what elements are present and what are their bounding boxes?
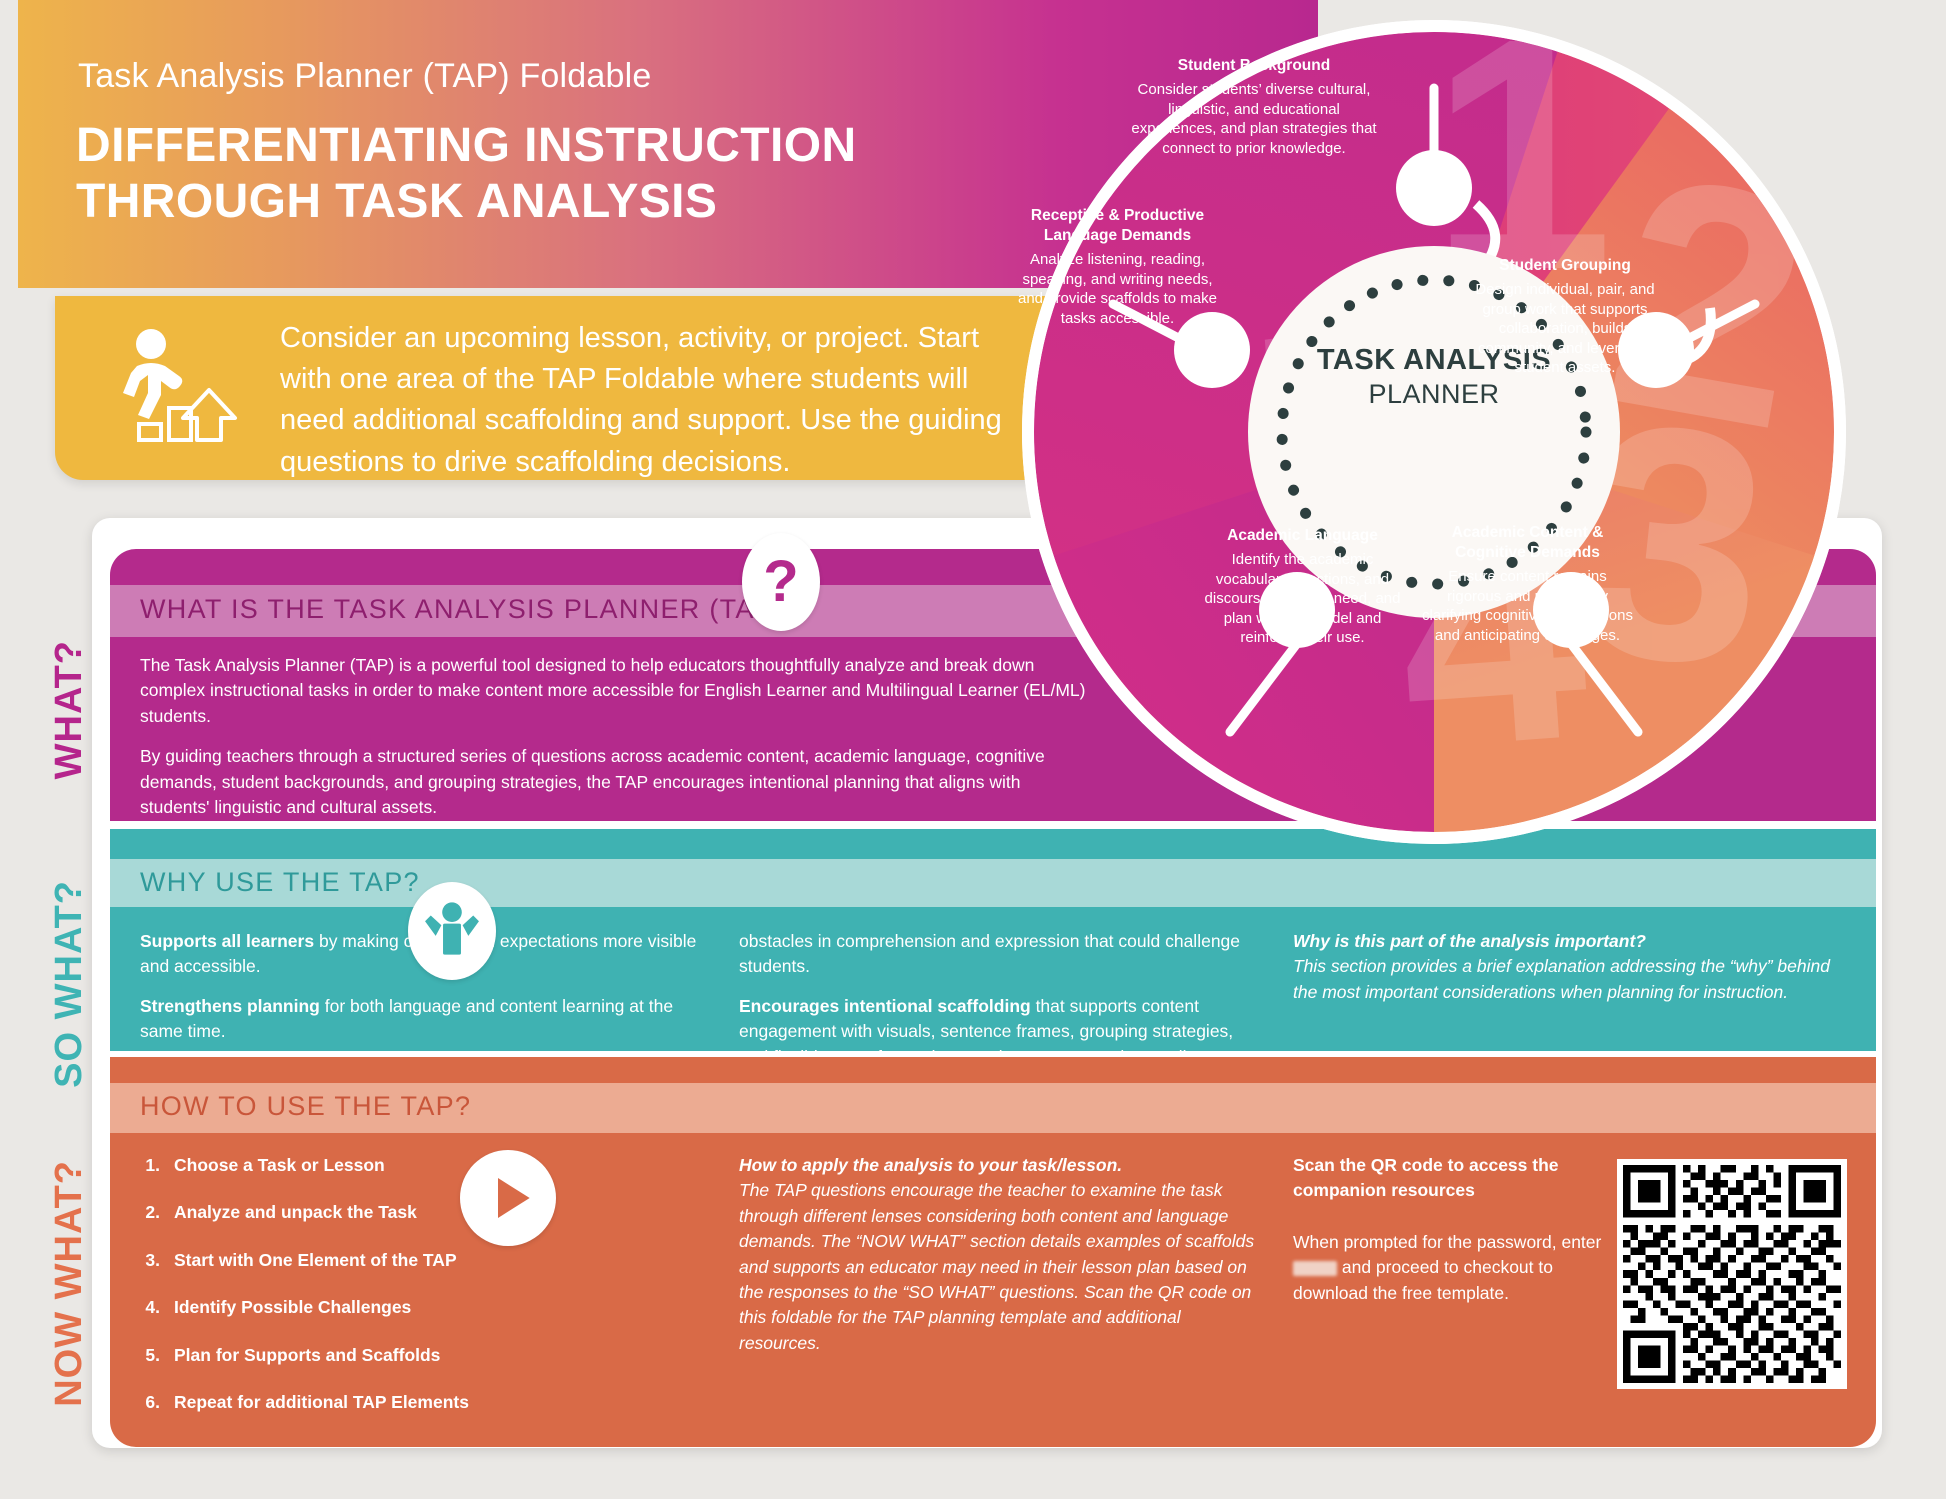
list-item: 6.Repeat for additional TAP Elements: [140, 1390, 705, 1415]
so-what-explainer: Why is this part of the analysis importa…: [1293, 929, 1853, 1005]
so-what-item: obstacles in comprehension and expressio…: [739, 929, 1259, 980]
list-item: 5.Plan for Supports and Scaffolds: [140, 1343, 705, 1368]
question-mark-icon: ?: [742, 533, 820, 631]
step-number: 1.: [140, 1153, 160, 1178]
now-what-steps-column: 1.Choose a Task or Lesson 2.Analyze and …: [140, 1153, 705, 1437]
section-now-what-columns: 1.Choose a Task or Lesson 2.Analyze and …: [140, 1153, 1856, 1437]
so-what-item: Encourages intentional scaffolding that …: [739, 994, 1259, 1051]
page-title-line1: DIFFERENTIATING INSTRUCTION: [76, 118, 857, 174]
person-raised-arms-icon: [408, 882, 496, 980]
so-what-column-3: Why is this part of the analysis importa…: [1293, 929, 1853, 1051]
page-title: DIFFERENTIATING INSTRUCTION THROUGH TASK…: [76, 118, 857, 230]
qr-heading: Scan the QR code to access the companion…: [1293, 1153, 1623, 1204]
so-what-item-rest: obstacles in comprehension and expressio…: [739, 931, 1240, 976]
redacted-password: [1293, 1261, 1337, 1276]
section-now-what: HOW TO USE THE TAP? 1.Choose a Task or L…: [110, 1057, 1876, 1447]
step-number: 6.: [140, 1390, 160, 1415]
step-label: Plan for Supports and Scaffolds: [174, 1343, 440, 1368]
person-climbing-bars-icon: [115, 320, 245, 450]
task-analysis-planner-wheel: 5 4 3 2 1: [1010, 8, 1858, 928]
question-mark-glyph: ?: [763, 553, 798, 611]
qr-note-before: When prompted for the password, enter: [1293, 1232, 1601, 1252]
page-title-line2: THROUGH TASK ANALYSIS: [76, 174, 857, 230]
so-what-explainer-heading: Why is this part of the analysis importa…: [1293, 931, 1646, 951]
now-what-apply-block: How to apply the analysis to your task/l…: [739, 1153, 1259, 1356]
step-label: Choose a Task or Lesson: [174, 1153, 385, 1178]
header-subtitle: Task Analysis Planner (TAP) Foldable: [78, 57, 651, 96]
step-label: Repeat for additional TAP Elements: [174, 1390, 469, 1415]
list-item: 4.Identify Possible Challenges: [140, 1295, 705, 1320]
what-paragraph-1: The Task Analysis Planner (TAP) is a pow…: [140, 653, 1090, 729]
play-button-icon[interactable]: [460, 1150, 556, 1246]
qr-code-icon[interactable]: [1617, 1159, 1847, 1389]
step-number: 3.: [140, 1248, 160, 1273]
so-what-item-bold: Strengthens planning: [140, 996, 320, 1016]
list-item: 3.Start with One Element of the TAP: [140, 1248, 705, 1273]
list-item: 2.Analyze and unpack the Task: [140, 1200, 705, 1225]
section-what-title: WHAT IS THE TASK ANALYSIS PLANNER (TAP)?: [140, 594, 801, 625]
side-label-now-what: NOW WHAT?: [48, 1160, 91, 1407]
step-label: Identify Possible Challenges: [174, 1295, 411, 1320]
so-what-column-2: obstacles in comprehension and expressio…: [739, 929, 1259, 1051]
now-what-apply-body: The TAP questions encourage the teacher …: [739, 1180, 1254, 1352]
side-label-what: WHAT?: [48, 640, 91, 779]
infographic-page: Task Analysis Planner (TAP) Foldable DIF…: [0, 0, 1946, 1499]
qr-password-note: When prompted for the password, enter an…: [1293, 1230, 1623, 1306]
step-label: Start with One Element of the TAP: [174, 1248, 457, 1273]
callout-text: Consider an upcoming lesson, activity, o…: [280, 318, 1010, 483]
so-what-item-bold: Encourages intentional scaffolding: [739, 996, 1031, 1016]
list-item: 1.Choose a Task or Lesson: [140, 1153, 705, 1178]
now-what-qr-column: Scan the QR code to access the companion…: [1293, 1153, 1853, 1437]
so-what-explainer-body: This section provides a brief explanatio…: [1293, 956, 1830, 1001]
step-label: Analyze and unpack the Task: [174, 1200, 417, 1225]
step-number: 2.: [140, 1200, 160, 1225]
so-what-item-bold: Supports all learners: [140, 931, 314, 951]
step-number: 5.: [140, 1343, 160, 1368]
side-label-so-what: SO WHAT?: [48, 880, 91, 1088]
section-now-what-title: HOW TO USE THE TAP?: [140, 1091, 471, 1122]
so-what-item: Strengthens planning for both language a…: [140, 994, 705, 1045]
now-what-step-list: 1.Choose a Task or Lesson 2.Analyze and …: [140, 1153, 705, 1415]
section-so-what-title: WHY USE THE TAP?: [140, 867, 420, 898]
callout-banner: Consider an upcoming lesson, activity, o…: [55, 296, 1055, 480]
what-paragraph-2: By guiding teachers through a structured…: [140, 744, 1090, 820]
now-what-apply-column: How to apply the analysis to your task/l…: [739, 1153, 1259, 1437]
section-so-what-columns: Supports all learners by making content …: [140, 929, 1856, 1051]
step-number: 4.: [140, 1295, 160, 1320]
now-what-apply-heading: How to apply the analysis to your task/l…: [739, 1155, 1122, 1175]
section-what-body: The Task Analysis Planner (TAP) is a pow…: [140, 653, 1090, 821]
